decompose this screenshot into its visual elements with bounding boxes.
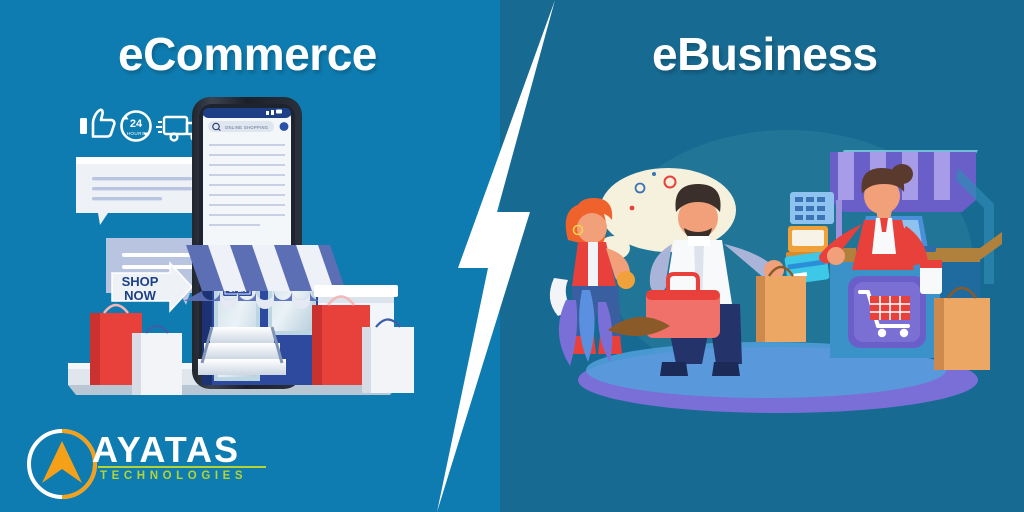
logo-divider-rule <box>98 466 266 468</box>
shop-now-line2: NOW <box>124 288 157 303</box>
badge-thumbs-up-icon <box>80 110 114 137</box>
bag-white-left <box>132 326 182 395</box>
shop-now-line1: SHOP <box>122 274 159 289</box>
logo-tagline: TECHNOLOGIES <box>100 470 247 482</box>
chat-bubble-1 <box>76 157 210 225</box>
svg-text:HOURS: HOURS <box>127 131 146 136</box>
badge-24-hours-icon: 24 HOURS <box>122 112 151 141</box>
steps <box>198 327 286 375</box>
page-title-ecommerce: eCommerce <box>118 27 377 81</box>
banner-canvas: 24 HOURS <box>0 0 1024 512</box>
phone-avatar <box>280 122 289 131</box>
shopping-cart-sign <box>848 276 926 348</box>
ecommerce-illustration: 24 HOURS <box>60 95 440 415</box>
page-title-ebusiness: eBusiness <box>652 27 878 81</box>
lightning-bolt-shape <box>437 0 555 512</box>
bag-red-right <box>312 297 370 386</box>
phone-search-placeholder: ONLINE SHOPPING <box>225 125 268 130</box>
bag-right-counter <box>756 267 806 342</box>
bag-far-right <box>934 288 990 370</box>
ebusiness-illustration: ••• <box>548 130 998 420</box>
lightning-bolt-divider <box>400 0 600 512</box>
logo-wordmark: AYATAS <box>92 429 240 471</box>
svg-text:24: 24 <box>130 118 143 130</box>
register-keypad <box>790 192 834 224</box>
